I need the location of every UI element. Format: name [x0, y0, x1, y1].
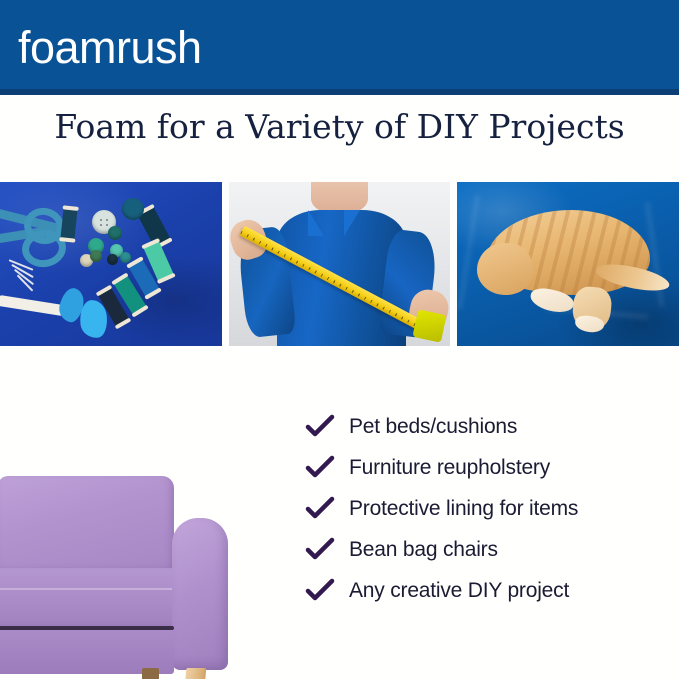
shirt-collar-left — [308, 210, 324, 236]
button-teal-large — [122, 198, 144, 220]
sofa-back-leg — [142, 668, 159, 679]
product-infographic: foamrush Foam for a Variety of DIY Proje… — [0, 0, 679, 679]
sofa-back-cushion-right — [0, 476, 174, 574]
cat-head — [477, 243, 532, 295]
lavender-sofa-illustration — [0, 440, 272, 679]
sofa-seat-cushion — [0, 568, 180, 630]
button-teal-4 — [120, 252, 131, 263]
list-item: Any creative DIY project — [305, 570, 679, 611]
list-item: Pet beds/cushions — [305, 406, 679, 447]
photo-strip — [0, 182, 679, 346]
page-title: Foam for a Variety of DIY Projects — [0, 108, 679, 146]
cat-on-beanbag-photo — [457, 182, 679, 346]
list-item-label: Pet beds/cushions — [349, 415, 517, 439]
button-dark-1 — [107, 254, 118, 265]
list-item: Bean bag chairs — [305, 529, 679, 570]
sewing-supplies-photo — [0, 182, 222, 346]
brand-logo-text: foamrush — [18, 25, 202, 70]
tape-measure-case — [412, 309, 446, 342]
list-item: Protective lining for items — [305, 488, 679, 529]
list-item: Furniture reupholstery — [305, 447, 679, 488]
list-item-label: Protective lining for items — [349, 497, 578, 521]
sofa-base-shadow-line — [0, 626, 174, 630]
list-item-label: Bean bag chairs — [349, 538, 498, 562]
button-teal-2 — [108, 226, 122, 240]
sofa-seat-highlight — [0, 588, 180, 590]
banner-bottom-edge — [0, 89, 679, 95]
check-icon — [305, 455, 335, 481]
check-icon — [305, 414, 335, 440]
check-icon — [305, 537, 335, 563]
button-green-small — [90, 250, 102, 262]
shirt-collar-right — [344, 210, 360, 236]
feature-list: Pet beds/cushions Furniture reupholstery… — [305, 406, 679, 611]
list-item-label: Any creative DIY project — [349, 579, 569, 603]
sofa-rolled-arm — [172, 518, 228, 670]
sofa-front-leg — [184, 668, 207, 679]
measuring-tape-photo — [229, 182, 451, 346]
check-icon — [305, 578, 335, 604]
check-icon — [305, 496, 335, 522]
list-item-label: Furniture reupholstery — [349, 456, 550, 480]
